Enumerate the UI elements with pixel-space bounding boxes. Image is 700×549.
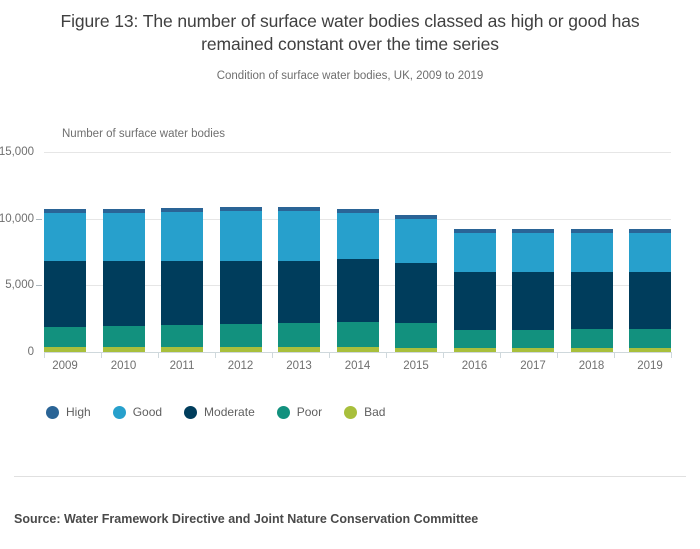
bar-column-2018[interactable] xyxy=(571,152,613,352)
bar-segment-poor-2015[interactable] xyxy=(395,323,437,348)
legend-item-poor[interactable]: Poor xyxy=(277,405,322,419)
bar-segment-moderate-2012[interactable] xyxy=(220,261,262,324)
bar-segment-good-2017[interactable] xyxy=(512,233,554,272)
x-axis-label-2013: 2013 xyxy=(278,360,320,372)
legend-label: Poor xyxy=(297,405,322,419)
bar-segment-poor-2012[interactable] xyxy=(220,324,262,347)
bar-column-2012[interactable] xyxy=(220,152,262,352)
chart-title-line-2: remained constant over the time series xyxy=(40,33,660,56)
y-axis-tick-0: 0 xyxy=(0,346,34,358)
legend-swatch-bad-icon xyxy=(344,406,357,419)
chart-header: Figure 13: The number of surface water b… xyxy=(0,0,700,82)
y-axis-title: Number of surface water bodies xyxy=(62,128,225,140)
bar-column-2019[interactable] xyxy=(629,152,671,352)
bar-series-group xyxy=(44,152,671,352)
y-axis-tick-5000: 5,000 xyxy=(0,279,34,291)
bar-column-2014[interactable] xyxy=(337,152,379,352)
page-title: Figure 13: The number of surface water b… xyxy=(40,10,660,56)
x-axis-tick-mark xyxy=(329,352,330,358)
x-axis-label-2009: 2009 xyxy=(44,360,86,372)
legend-item-good[interactable]: Good xyxy=(113,405,162,419)
bar-segment-moderate-2013[interactable] xyxy=(278,261,320,324)
legend-swatch-poor-icon xyxy=(277,406,290,419)
bar-column-2016[interactable] xyxy=(454,152,496,352)
footer-divider xyxy=(14,476,686,477)
bar-segment-good-2010[interactable] xyxy=(103,213,145,262)
bar-column-2017[interactable] xyxy=(512,152,554,352)
x-axis-tick-labels: 2009201020112012201320142015201620172018… xyxy=(44,360,671,372)
x-axis-tick-mark xyxy=(557,352,558,358)
chart-title-line-1: Figure 13: The number of surface water b… xyxy=(40,10,660,33)
bar-segment-moderate-2015[interactable] xyxy=(395,263,437,322)
x-axis-tick-mark xyxy=(443,352,444,358)
x-axis-label-2010: 2010 xyxy=(103,360,145,372)
bar-segment-moderate-2010[interactable] xyxy=(103,261,145,326)
legend-item-moderate[interactable]: Moderate xyxy=(184,405,255,419)
x-axis-tick-mark xyxy=(386,352,387,358)
bar-segment-good-2016[interactable] xyxy=(454,233,496,272)
legend-swatch-good-icon xyxy=(113,406,126,419)
bar-segment-poor-2011[interactable] xyxy=(161,325,203,347)
x-axis-label-2014: 2014 xyxy=(337,360,379,372)
x-axis: 2009201020112012201320142015201620172018… xyxy=(44,352,671,382)
bar-segment-poor-2017[interactable] xyxy=(512,330,554,348)
bar-segment-poor-2018[interactable] xyxy=(571,329,613,348)
bar-segment-moderate-2009[interactable] xyxy=(44,261,86,326)
x-axis-label-2011: 2011 xyxy=(161,360,203,372)
y-axis-tick-10000: 10,000 xyxy=(0,213,34,225)
bar-segment-poor-2009[interactable] xyxy=(44,327,86,348)
x-axis-tick-mark xyxy=(215,352,216,358)
bar-segment-good-2018[interactable] xyxy=(571,233,613,272)
bar-column-2015[interactable] xyxy=(395,152,437,352)
legend-label: High xyxy=(66,405,91,419)
bar-segment-poor-2016[interactable] xyxy=(454,330,496,348)
bar-segment-moderate-2019[interactable] xyxy=(629,272,671,329)
x-axis-tick-mark xyxy=(500,352,501,358)
y-axis-tick-mark-10000 xyxy=(36,219,42,220)
legend-label: Moderate xyxy=(204,405,255,419)
bar-column-2010[interactable] xyxy=(103,152,145,352)
y-axis-tick-mark-5000 xyxy=(36,285,42,286)
bar-segment-moderate-2011[interactable] xyxy=(161,261,203,325)
chart-legend: HighGoodModeratePoorBad xyxy=(46,405,385,419)
bar-segment-good-2015[interactable] xyxy=(395,219,437,264)
x-axis-label-2018: 2018 xyxy=(571,360,613,372)
bar-segment-poor-2013[interactable] xyxy=(278,323,320,347)
bar-segment-poor-2014[interactable] xyxy=(337,322,379,347)
x-axis-label-2015: 2015 xyxy=(395,360,437,372)
x-axis-tick-mark xyxy=(101,352,102,358)
chart-plot-wrapper: Number of surface water bodies 05,00010,… xyxy=(0,128,700,363)
bar-column-2009[interactable] xyxy=(44,152,86,352)
bar-column-2011[interactable] xyxy=(161,152,203,352)
x-axis-label-2017: 2017 xyxy=(512,360,554,372)
legend-swatch-moderate-icon xyxy=(184,406,197,419)
bar-segment-moderate-2014[interactable] xyxy=(337,259,379,322)
x-axis-tick-mark xyxy=(158,352,159,358)
y-axis-tick-15000: 15,000 xyxy=(0,146,34,158)
x-axis-tick-mark xyxy=(671,352,672,358)
bar-segment-moderate-2016[interactable] xyxy=(454,272,496,330)
legend-label: Good xyxy=(133,405,162,419)
legend-item-high[interactable]: High xyxy=(46,405,91,419)
bar-segment-good-2012[interactable] xyxy=(220,211,262,260)
bar-column-2013[interactable] xyxy=(278,152,320,352)
legend-swatch-high-icon xyxy=(46,406,59,419)
legend-item-bad[interactable]: Bad xyxy=(344,405,385,419)
x-axis-label-2012: 2012 xyxy=(220,360,262,372)
source-note: Source: Water Framework Directive and Jo… xyxy=(14,512,478,526)
bar-segment-poor-2019[interactable] xyxy=(629,329,671,348)
chart-subtitle: Condition of surface water bodies, UK, 2… xyxy=(0,70,700,82)
legend-label: Bad xyxy=(364,405,385,419)
x-axis-label-2019: 2019 xyxy=(629,360,671,372)
bar-segment-good-2014[interactable] xyxy=(337,213,379,259)
bar-segment-good-2019[interactable] xyxy=(629,233,671,272)
bar-segment-moderate-2017[interactable] xyxy=(512,272,554,330)
x-axis-label-2016: 2016 xyxy=(454,360,496,372)
x-axis-tick-mark xyxy=(614,352,615,358)
bar-segment-good-2009[interactable] xyxy=(44,213,86,262)
bar-segment-moderate-2018[interactable] xyxy=(571,272,613,329)
x-axis-tick-mark xyxy=(44,352,45,358)
bar-segment-good-2011[interactable] xyxy=(161,212,203,261)
bar-segment-poor-2010[interactable] xyxy=(103,326,145,347)
x-axis-tick-mark xyxy=(272,352,273,358)
bar-segment-good-2013[interactable] xyxy=(278,211,320,260)
